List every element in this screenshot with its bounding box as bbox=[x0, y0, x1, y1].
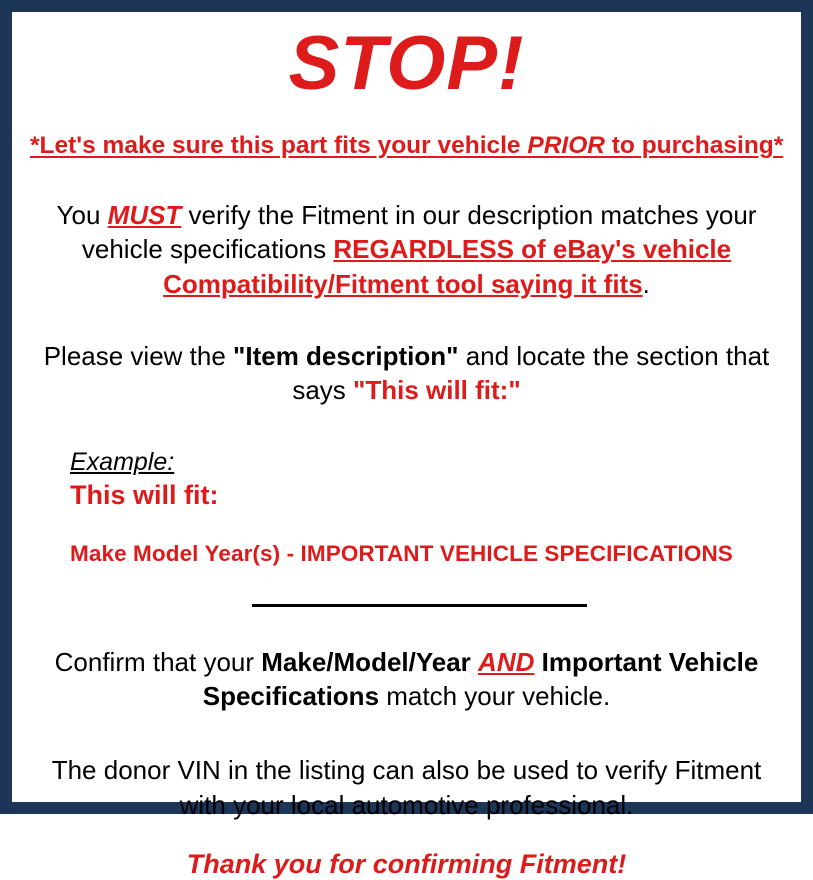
must-segment-3: . bbox=[643, 269, 650, 299]
horizontal-divider bbox=[252, 604, 587, 607]
donor-vin-paragraph: The donor VIN in the listing can also be… bbox=[30, 753, 783, 822]
tagline-prior-emphasis: PRIOR bbox=[527, 132, 605, 159]
notice-inner-content: STOP! *Let's make sure this part fits yo… bbox=[20, 26, 793, 816]
confirm-segment-4: match your vehicle. bbox=[379, 681, 610, 711]
tagline-before: *Let's make sure this part fits your veh… bbox=[30, 132, 527, 159]
item-description-paragraph: Please view the "Item description" and l… bbox=[30, 339, 783, 408]
must-segment-1: You bbox=[57, 200, 108, 230]
and-emphasis: AND bbox=[478, 647, 534, 677]
confirm-segment-2 bbox=[471, 647, 478, 677]
make-model-year-emphasis: Make/Model/Year bbox=[261, 647, 471, 677]
confirm-segment-3 bbox=[534, 647, 541, 677]
this-will-fit-emphasis: "This will fit:" bbox=[353, 375, 521, 405]
confirm-segment-1: Confirm that your bbox=[55, 647, 262, 677]
example-label: Example: bbox=[70, 448, 174, 478]
view-segment-1: Please view the bbox=[44, 341, 233, 371]
must-emphasis: MUST bbox=[108, 200, 182, 230]
must-verify-paragraph: You MUST verify the Fitment in our descr… bbox=[30, 198, 783, 301]
thank-you-message: Thank you for confirming Fitment! bbox=[30, 848, 783, 880]
tagline: *Let's make sure this part fits your veh… bbox=[30, 132, 783, 160]
page-title: STOP! bbox=[30, 26, 783, 102]
example-fit-heading: This will fit: bbox=[70, 479, 783, 511]
confirm-paragraph: Confirm that your Make/Model/Year AND Im… bbox=[30, 645, 783, 714]
fitment-notice-card: STOP! *Let's make sure this part fits yo… bbox=[0, 0, 813, 814]
divider-wrap bbox=[30, 597, 783, 615]
item-description-emphasis: "Item description" bbox=[233, 341, 458, 371]
example-label-row: Example: bbox=[70, 448, 783, 478]
example-spec-line: Make Model Year(s) - IMPORTANT VEHICLE S… bbox=[70, 540, 783, 567]
tagline-after: to purchasing* bbox=[605, 132, 783, 159]
example-block: Example: This will fit: Make Model Year(… bbox=[30, 448, 783, 567]
